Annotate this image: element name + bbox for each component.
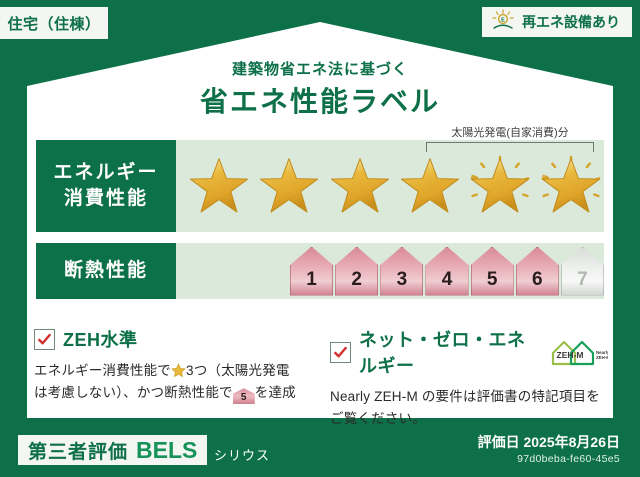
label-footer: 第三者評価 BELS シリウス 評価日 2025年8月26日 97d0beba-… xyxy=(0,423,640,477)
building-type-tag-label: 住宅（住棟） xyxy=(7,13,100,34)
star-solar xyxy=(538,140,604,232)
criterion-nze-title: ネット・ゼロ・エネルギー xyxy=(359,326,542,378)
energy-key-line2: 消費性能 xyxy=(53,186,158,212)
star-filled xyxy=(327,140,393,232)
insulation-level-badge-5: 5 xyxy=(471,247,514,296)
insulation-level-badge-2: 2 xyxy=(335,247,378,296)
criterion-net-zero-energy: ネット・ゼロ・エネルギー ZEH-M Nearly ZEH-M Nearly Z… xyxy=(330,326,608,431)
insulation-level-badge-6: 6 xyxy=(516,247,559,296)
renewable-badge-label: 再エネ設備あり xyxy=(522,12,620,32)
bels-jp-label: 第三者評価 xyxy=(28,437,128,464)
bels-certification-box: 第三者評価 BELS xyxy=(18,435,207,465)
criterion-zeh-body: エネルギー消費性能で3つ（太陽光発電は考慮しない）、かつ断熱性能で5を達成 xyxy=(34,360,312,405)
star-icon xyxy=(171,363,186,378)
star-filled xyxy=(397,140,463,232)
zeh-body-part3: は考慮しない）、かつ断熱性能で xyxy=(34,385,233,400)
zeh-m-logo-text: ZEH-M xyxy=(557,350,584,360)
zeh-m-logo-icon: ZEH-M Nearly ZEH-M xyxy=(550,337,608,367)
checkmark-icon xyxy=(34,329,55,350)
energy-performance-key: エネルギー 消費性能 xyxy=(36,140,176,232)
label-main-title: 省エネ性能ラベル xyxy=(0,80,640,120)
svg-text:ZEH-M: ZEH-M xyxy=(596,355,608,360)
zeh-body-part1: エネルギー消費性能で xyxy=(34,363,171,378)
energy-performance-value: 太陽光発電(自家消費)分 xyxy=(176,140,604,232)
building-type-tag: 住宅（住棟） xyxy=(0,7,108,39)
energy-performance-row: エネルギー 消費性能 太陽光発電(自家消費)分 xyxy=(36,140,604,232)
star-solar xyxy=(467,140,533,232)
checkmark-icon xyxy=(330,342,351,363)
criterion-nze-header: ネット・ゼロ・エネルギー ZEH-M Nearly ZEH-M xyxy=(330,326,608,378)
insulation-level-badge-4: 4 xyxy=(425,247,468,296)
zeh-body-part4: を達成 xyxy=(255,385,296,400)
criterion-zeh-header: ZEH水準 xyxy=(34,326,312,352)
insulation-level-badge-1: 1 xyxy=(290,247,333,296)
bels-en-label: BELS xyxy=(136,437,197,464)
star-rating xyxy=(176,140,604,232)
energy-performance-label: 住宅（住棟） E 再エネ設備あり 建築物省エネ法に基づく 省エネ性能ラベル xyxy=(0,0,640,477)
evaluation-date: 評価日 2025年8月26日 xyxy=(478,432,620,452)
solar-generation-note: 太陽光発電(自家消費)分 xyxy=(422,124,598,140)
svg-text:E: E xyxy=(501,17,505,23)
criterion-zeh-title: ZEH水準 xyxy=(63,326,138,352)
evaluation-id: 97d0beba-fe60-45e5 xyxy=(517,453,620,465)
insulation-level-badge-3: 3 xyxy=(380,247,423,296)
insulation-level-scale: 1234567 xyxy=(176,243,604,299)
insulation-level-inline-badge: 5 xyxy=(233,388,255,404)
label-sub-title: 建築物省エネ法に基づく xyxy=(0,58,640,79)
renewable-equipment-badge: E 再エネ設備あり xyxy=(482,7,632,37)
bels-series-label: シリウス xyxy=(214,445,270,464)
sun-energy-icon: E xyxy=(490,9,516,36)
insulation-performance-key: 断熱性能 xyxy=(36,243,176,299)
zeh-body-part2: 3つ（太陽光発電 xyxy=(186,363,290,378)
insulation-performance-value: 1234567 xyxy=(176,243,604,299)
insulation-performance-row: 断熱性能 1234567 xyxy=(36,243,604,299)
criterion-zeh-standard: ZEH水準 エネルギー消費性能で3つ（太陽光発電は考慮しない）、かつ断熱性能で5… xyxy=(34,326,312,405)
star-filled xyxy=(186,140,252,232)
star-filled xyxy=(256,140,322,232)
energy-key-line1: エネルギー xyxy=(53,160,158,186)
insulation-level-badge-7: 7 xyxy=(561,247,604,296)
